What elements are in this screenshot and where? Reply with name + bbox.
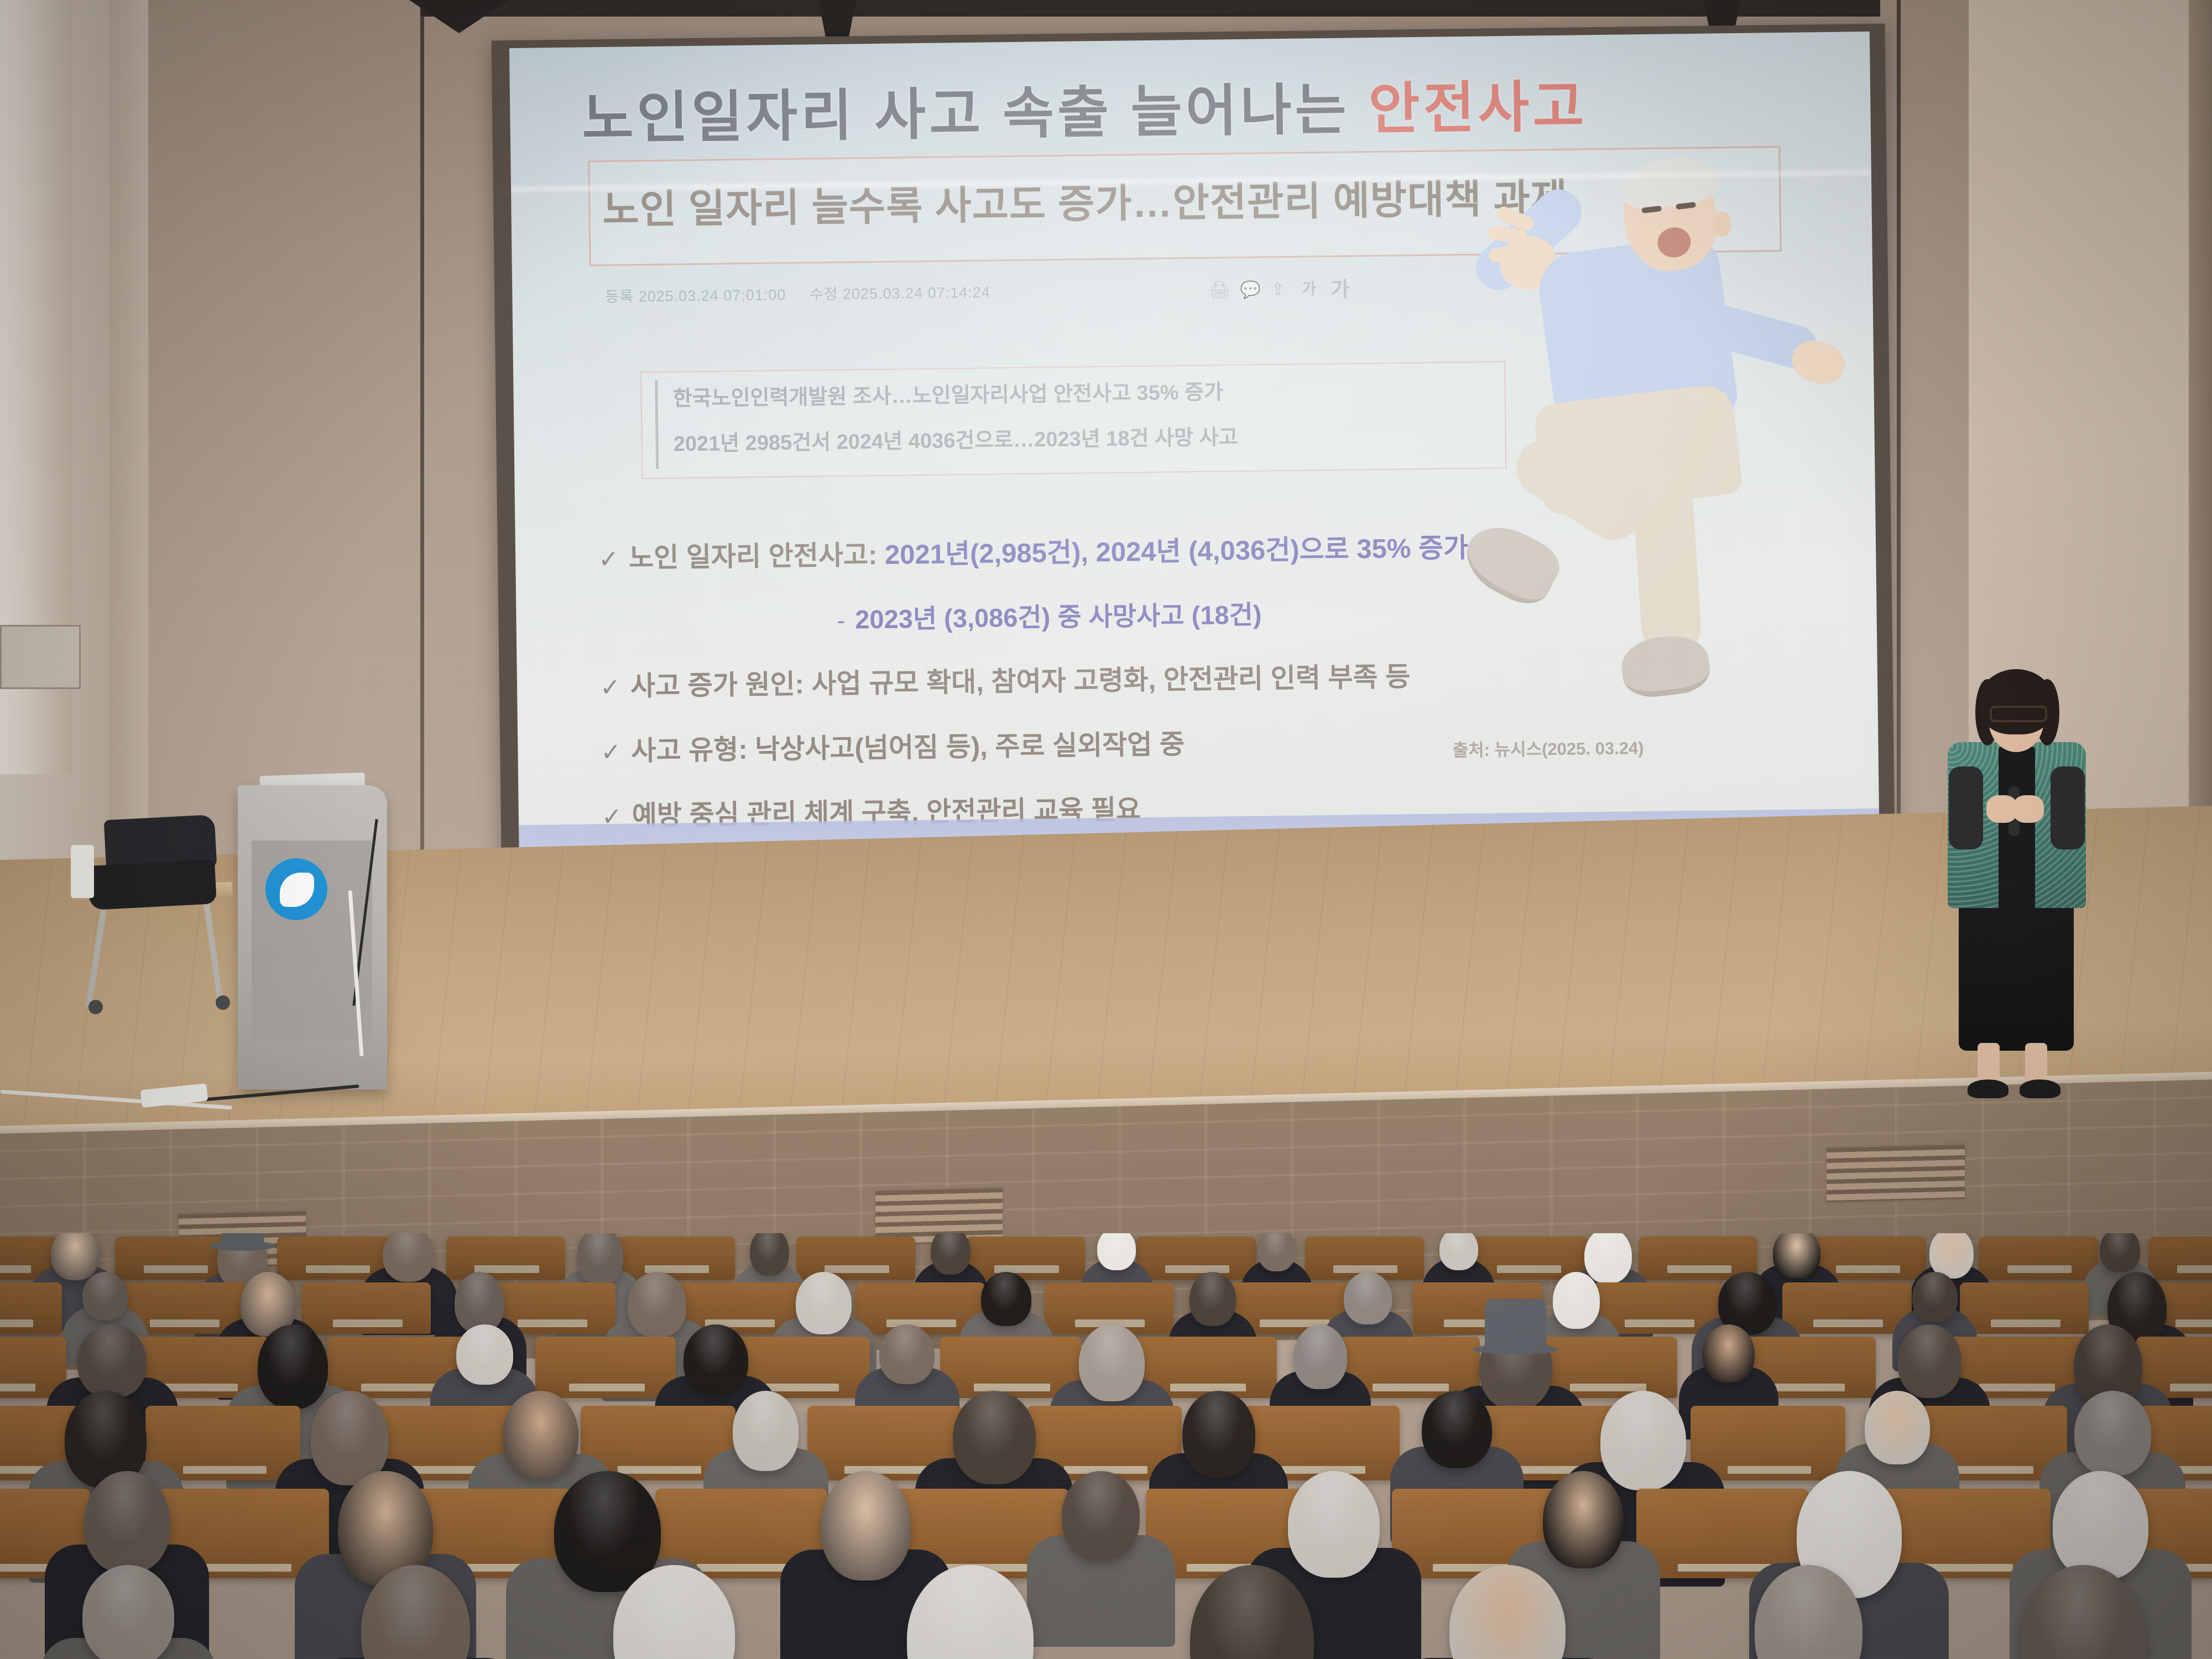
bullet-label: 사고 증가 원인: 사업 규모 확대, 참여자 고령화, 안전관리 인력 부족 …	[630, 662, 1411, 701]
leg	[2025, 1043, 2047, 1085]
audience-member-head	[684, 1324, 748, 1396]
audience-member-head	[821, 1471, 911, 1580]
table-caster	[216, 995, 230, 1010]
presenter	[1924, 669, 2101, 1106]
auditorium-seat	[1979, 1237, 2098, 1280]
equipment-bag	[87, 859, 217, 910]
audience-member-head	[51, 1233, 100, 1280]
seat-number-plate	[1373, 1384, 1448, 1391]
auditorium-seat	[1691, 1406, 1845, 1480]
seat-number-plate	[306, 1265, 370, 1273]
audience-member-head	[455, 1272, 504, 1333]
seat-number-plate	[1625, 1319, 1694, 1327]
published-timestamp: 등록 2025.03.24 07:01:00	[605, 286, 786, 305]
bullet-label: 노인 일자리 안전사고:	[629, 540, 885, 573]
seat-number-plate	[1570, 1384, 1646, 1391]
seat-number-plate	[2176, 1319, 2212, 1327]
seat-number-plate	[1667, 1265, 1731, 1273]
audience-member-head	[953, 1391, 1036, 1484]
seat-number-plate	[0, 1564, 52, 1572]
seat-number-plate	[1165, 1265, 1229, 1273]
slide-source: 출처: 뉴시스(2025. 03.24)	[1452, 734, 1644, 761]
audience-member-head	[82, 1565, 175, 1659]
audience-member-hat	[222, 1233, 264, 1246]
table-caster	[88, 1000, 103, 1014]
slide-content: 노인일자리 사고 속출 늘어나는 안전사고 노인 일자리 늘수록 사고도 증가……	[509, 32, 1880, 878]
finger	[1488, 243, 1528, 263]
seat-number-plate	[1949, 1466, 2033, 1474]
audience-member-head	[1584, 1233, 1632, 1284]
seat-number-plate	[144, 1265, 208, 1273]
seat-number-plate	[150, 1319, 220, 1327]
auditorium-seat	[966, 1237, 1085, 1280]
audience-member-head	[1439, 1233, 1478, 1270]
seat-number-plate	[199, 1564, 291, 1572]
seat-number-plate	[1991, 1319, 2060, 1327]
seat-number-plate	[825, 1265, 889, 1273]
seat-number-plate	[2170, 1384, 2212, 1391]
audience-member-head	[1190, 1272, 1236, 1326]
audience-member-head	[1097, 1233, 1136, 1270]
article-toolbar: 🖨 💬 ⇪ 가 가	[1209, 273, 1349, 304]
seat-number-plate	[697, 1564, 790, 1572]
font-size-large-icon[interactable]: 가	[1331, 273, 1350, 302]
seat-number-plate	[183, 1466, 267, 1474]
audience-member-head	[2100, 1233, 2140, 1272]
auditorium-seat	[535, 1337, 676, 1398]
seat-number-plate	[1836, 1265, 1900, 1273]
audience-member-head	[879, 1324, 935, 1384]
audience-member-hat	[1485, 1299, 1546, 1350]
audience-member-head	[1293, 1324, 1347, 1389]
audience-member-head	[1543, 1471, 1624, 1568]
auditorium-seat	[616, 1237, 735, 1280]
seat-number-plate	[1170, 1384, 1246, 1391]
audience-member-head	[1079, 1324, 1145, 1401]
seat-number-plate	[0, 1265, 31, 1273]
audience-member-head	[1865, 1391, 1930, 1464]
seat-number-plate	[569, 1384, 645, 1391]
audience-member-head	[628, 1272, 687, 1338]
audience-member-head	[1898, 1324, 1961, 1398]
seat-number-plate	[2007, 1265, 2072, 1273]
auditorium-seat	[796, 1237, 915, 1280]
audience-member-head	[1288, 1471, 1380, 1578]
auditorium-seat	[1136, 1237, 1255, 1280]
water-bottle	[71, 845, 94, 898]
audience-member-head	[1773, 1233, 1820, 1279]
audience-member-head	[931, 1233, 971, 1275]
share-icon[interactable]: ⇪	[1271, 280, 1287, 296]
sleeve	[1949, 766, 1983, 849]
auditorium-seat	[1960, 1282, 2089, 1334]
seat-number-plate	[1813, 1319, 1883, 1327]
slide-title-main: 노인일자리 사고 속출 늘어나는	[582, 79, 1369, 150]
bullet-value: 2023년 (3,086건) 중 사망사고 (18건)	[855, 600, 1262, 634]
shoe	[1968, 1079, 2008, 1098]
seat-number-plate	[0, 1319, 33, 1327]
ear	[1713, 211, 1732, 237]
audience-member-head	[1553, 1272, 1600, 1329]
wall-seam-left	[420, 0, 424, 885]
slide-title-accent: 안전사고	[1368, 76, 1588, 140]
seat-number-plate	[474, 1265, 539, 1273]
audience-member-head	[383, 1233, 434, 1282]
hand	[2013, 795, 2044, 823]
seat-number-plate	[333, 1319, 403, 1327]
audience-member-head	[82, 1272, 128, 1320]
wall-access-panel	[0, 625, 81, 689]
audience-member-head	[311, 1391, 389, 1485]
bullet-value: 2021년(2,985건), 2024년 (4,036건)으로 35% 증가	[885, 533, 1469, 570]
organization-logo-icon	[265, 858, 327, 920]
glasses	[1990, 706, 2047, 722]
sleeve	[2051, 766, 2085, 849]
updated-timestamp: 수정 2025.03.24 07:14:24	[810, 284, 990, 302]
projection-screen: 노인일자리 사고 속출 늘어나는 안전사고 노인 일자리 늘수록 사고도 증가……	[509, 32, 1880, 878]
audience-member-head	[577, 1233, 623, 1285]
dash-icon: -	[837, 607, 845, 634]
air-vent-grille	[1825, 1143, 1966, 1204]
presentation-photo-scene: 노인일자리 사고 속출 늘어나는 안전사고 노인 일자리 늘수록 사고도 증가……	[0, 0, 2212, 1659]
audience-member-head	[258, 1324, 328, 1409]
skirt	[1959, 901, 2074, 1051]
audience-member-head	[1182, 1391, 1255, 1478]
ceiling-rail	[420, 0, 1880, 17]
seat-number-plate	[361, 1384, 437, 1391]
check-icon: ✓	[601, 739, 621, 766]
seat-number-plate	[1497, 1265, 1561, 1273]
comment-icon[interactable]: 💬	[1240, 280, 1256, 297]
auditorium-seat	[446, 1237, 565, 1280]
leg	[1978, 1043, 2000, 1085]
audience-member-head	[1600, 1391, 1686, 1490]
seat-number-plate	[2177, 1265, 2212, 1273]
seat-number-plate	[1768, 1384, 1844, 1391]
right-leg	[1631, 469, 1703, 655]
audience-member-head	[1258, 1233, 1296, 1271]
seat-number-plate	[0, 1384, 35, 1391]
seat-number-plate	[1678, 1564, 1771, 1572]
ceiling-baffle-3	[409, 0, 509, 33]
hair	[1979, 669, 2054, 734]
wall-seam-right	[1897, 0, 1901, 841]
seat-number-plate	[763, 1384, 839, 1391]
auditorium-seat	[2148, 1237, 2212, 1280]
audience-member-head	[1912, 1272, 1957, 1322]
seat-number-plate	[618, 1466, 701, 1474]
audience-member-head	[2074, 1391, 2151, 1476]
seat-number-plate	[1728, 1466, 1811, 1474]
audience-member-head	[981, 1272, 1031, 1326]
shoe	[2020, 1079, 2060, 1098]
seat-number-plate	[518, 1319, 587, 1327]
slide-title: 노인일자리 사고 속출 늘어나는 안전사고	[582, 59, 1816, 154]
font-size-small-icon[interactable]: 가	[1302, 276, 1316, 299]
audience-member-head	[750, 1233, 789, 1276]
seat-number-plate	[162, 1384, 238, 1391]
audience-member-head	[796, 1272, 852, 1334]
print-icon[interactable]: 🖨	[1209, 280, 1225, 297]
bullet-label: 사고 유형: 낙상사고(넘어짐 등), 주로 실외작업 중	[631, 729, 1185, 766]
audience-member-head	[84, 1471, 170, 1573]
audience-member-head	[1344, 1272, 1392, 1324]
audience-member-head	[733, 1391, 799, 1471]
auditorium-seat	[0, 1282, 62, 1334]
seat-number-plate	[1979, 1384, 2055, 1391]
check-icon: ✓	[598, 546, 619, 573]
audience-member-head	[2053, 1471, 2148, 1580]
audience-member-head	[503, 1391, 579, 1479]
podium	[238, 785, 387, 1089]
audience-member-head	[456, 1324, 513, 1385]
audience	[0, 1233, 2212, 1659]
audience-member-head	[1062, 1471, 1140, 1560]
seat-number-plate	[974, 1384, 1050, 1391]
falling-elderly-man-illustration	[1418, 159, 1845, 695]
audience-member-head	[77, 1324, 147, 1398]
right-shoe	[1619, 632, 1712, 701]
left-wall-panel-secondary	[109, 0, 148, 863]
left-shoe	[1455, 514, 1567, 613]
auditorium-seat	[302, 1282, 431, 1334]
audience-member-head	[1703, 1324, 1755, 1383]
audience-member-head	[1422, 1391, 1492, 1468]
auditorium-seat	[1782, 1282, 1911, 1334]
check-icon: ✓	[600, 674, 620, 701]
